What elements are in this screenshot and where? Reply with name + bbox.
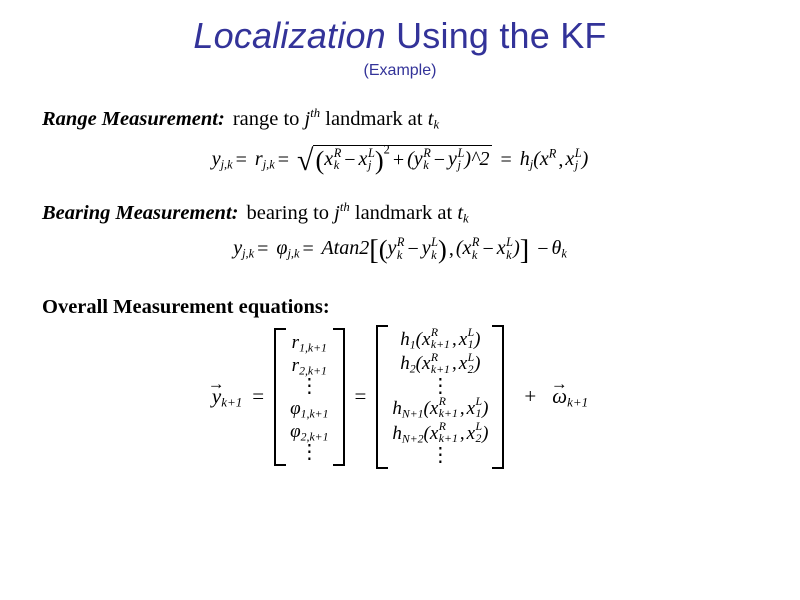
range-desc-part2: landmark at: [320, 108, 428, 130]
vector-row-ellipsis: ⋮: [290, 443, 328, 463]
noise-term: →ωk+1: [542, 384, 588, 409]
range-equation: yj,k= rj,k= √(xRk−xLj)2+(yRk−yLj)^2 = hj…: [212, 145, 589, 176]
h-function-vector-rows: h1(xRk+1,xL1) h2(xRk+1,xL2) ⋮ hN+1(xRk+1…: [388, 325, 492, 470]
bearing-equation-row: yj,k= φj,k= Atan2[(yRk−yLk),(xRk−xLk)] −…: [0, 237, 800, 263]
vector-row: h1(xRk+1,xL1): [392, 328, 488, 353]
overall-equations-label: Overall Measurement equations:: [42, 296, 330, 318]
sqrt-group: √(xRk−xLj)2+(yRk−yLj)^2: [297, 145, 492, 176]
range-time-sub: k: [433, 118, 439, 132]
range-measurement-heading: Range Measurement:range to jth landmark …: [0, 108, 800, 131]
overall-matrix-equation: →yk+1 = r1,k+1 r2,k+1 ⋮ φ1,k+1 φ2,k+1 ⋮ …: [0, 325, 800, 470]
measurement-vector-rows: r1,k+1 r2,k+1 ⋮ φ1,k+1 φ2,k+1 ⋮: [286, 328, 332, 467]
matrix-lhs: →yk+1: [212, 384, 242, 409]
vector-row: φ2,k+1: [290, 420, 328, 443]
bearing-time-sub: k: [463, 212, 469, 226]
slide-root: { "title": { "italic_part": "Localizatio…: [0, 0, 800, 600]
vector-row: hN+1(xRk+1,xL1): [392, 397, 488, 422]
bracket-right-open: [376, 325, 388, 470]
vector-row: r1,k+1: [290, 331, 328, 354]
bearing-measurement-description: bearing to jth landmark at tk: [246, 202, 468, 224]
bearing-measurement-heading: Bearing Measurement:bearing to jth landm…: [0, 202, 800, 225]
bearing-desc-part1: bearing to: [246, 202, 334, 224]
plus-sign: +: [510, 384, 536, 409]
vector-row: φ1,k+1: [290, 397, 328, 420]
bearing-measurement-label: Bearing Measurement:: [42, 202, 238, 224]
radicand: (xRk−xLj)2+(yRk−yLj)^2: [313, 145, 493, 173]
vector-row: h2(xRk+1,xL2): [392, 352, 488, 377]
range-equation-row: yj,k= rj,k= √(xRk−xLj)2+(yRk−yLj)^2 = hj…: [0, 145, 800, 176]
measurement-vector: r1,k+1 r2,k+1 ⋮ φ1,k+1 φ2,k+1 ⋮: [274, 328, 344, 467]
equals-sign-2: =: [351, 384, 371, 409]
range-measurement-description: range to jth landmark at tk: [233, 108, 439, 130]
bearing-equation: yj,k= φj,k= Atan2[(yRk−yLk),(xRk−xLk)] −…: [233, 237, 567, 263]
vector-row-ellipsis: ⋮: [392, 377, 488, 397]
bracket-right-close: [492, 325, 504, 470]
slide-content: Range Measurement:range to jth landmark …: [0, 80, 800, 469]
equals-sign-1: =: [248, 384, 268, 409]
range-index-ordinal: th: [310, 106, 320, 120]
h-function-vector: h1(xRk+1,xL1) h2(xRk+1,xL2) ⋮ hN+1(xRk+1…: [376, 325, 504, 470]
range-desc-part1: range to: [233, 108, 305, 130]
bearing-index-ordinal: th: [340, 200, 350, 214]
page-title: Localization Using the KF: [0, 16, 800, 56]
range-measurement-label: Range Measurement:: [42, 108, 225, 130]
vector-row: hN+2(xRk+1,xL2): [392, 422, 488, 447]
radical-icon: √: [297, 146, 313, 176]
vector-row: r2,k+1: [290, 354, 328, 377]
page-title-rest: Using the KF: [386, 15, 607, 56]
page-subtitle: (Example): [0, 62, 800, 80]
title-block: Localization Using the KF (Example): [0, 0, 800, 80]
bracket-left-close: [333, 328, 345, 467]
vector-row-ellipsis: ⋮: [290, 377, 328, 397]
bracket-left-open: [274, 328, 286, 467]
overall-equations-heading: Overall Measurement equations:: [0, 296, 800, 319]
bearing-desc-part2: landmark at: [350, 202, 458, 224]
vector-row-ellipsis: ⋮: [392, 446, 488, 466]
page-title-italic: Localization: [193, 15, 386, 56]
